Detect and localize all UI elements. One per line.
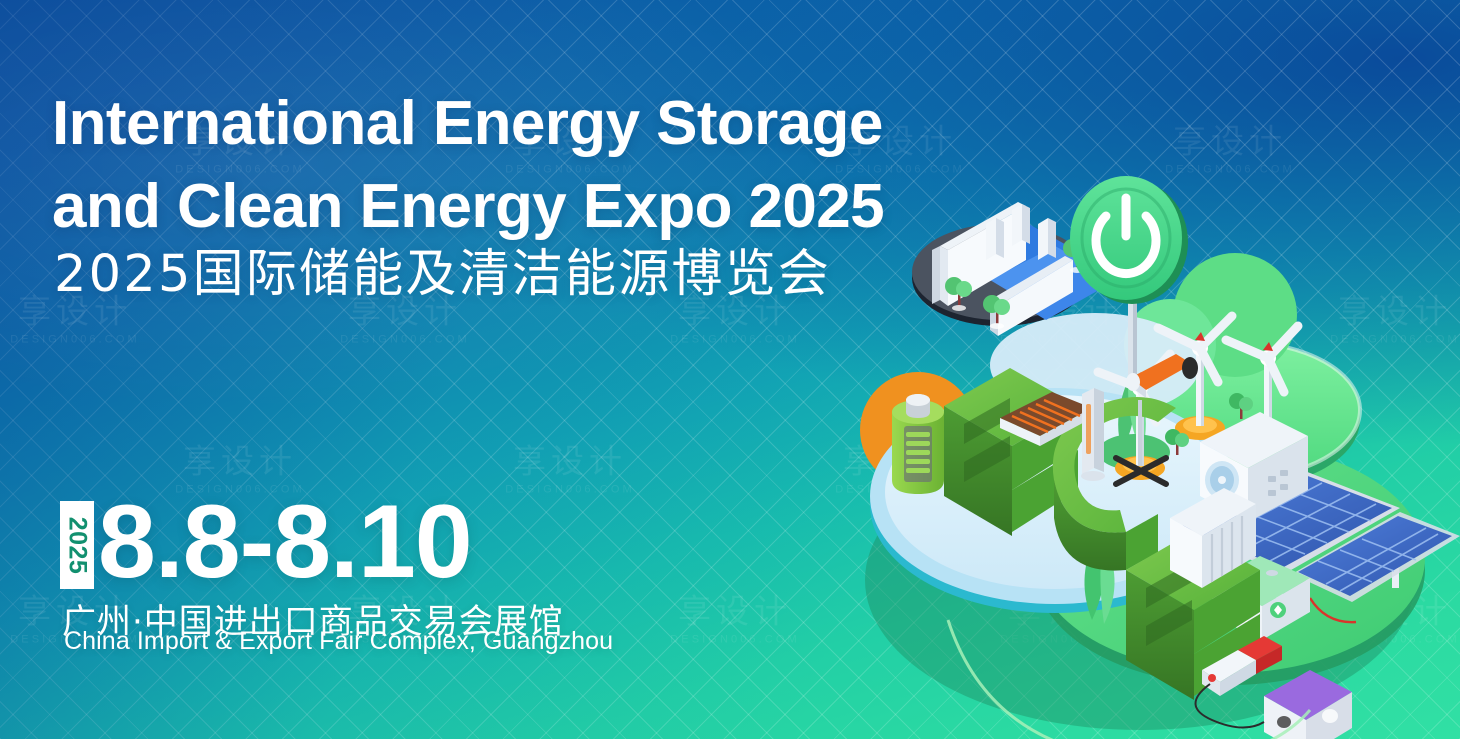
title-line-1: International Energy Storage [52, 89, 883, 158]
tower-heater [1081, 388, 1105, 481]
venue-name-en: China Import & Export Fair Complex, Guan… [64, 627, 613, 656]
title-line-2: and Clean Energy Expo 2025 [52, 165, 932, 248]
page-subtitle-cn: 2025国际储能及清洁能源博览会 [54, 246, 831, 303]
year-badge: 2025 [60, 501, 94, 589]
event-date-block: 2025 8.8-8.10 [60, 497, 472, 589]
page-title: International Energy Storage and Clean E… [52, 82, 932, 248]
year-badge-label: 2025 [63, 516, 92, 574]
date-range: 8.8-8.10 [98, 497, 472, 589]
poster-text-block: International Energy Storage and Clean E… [0, 0, 960, 739]
expo-poster: 享设计 DESIGN006.COM 享设计 DESIGN006.COM 享设计 … [0, 0, 1460, 739]
